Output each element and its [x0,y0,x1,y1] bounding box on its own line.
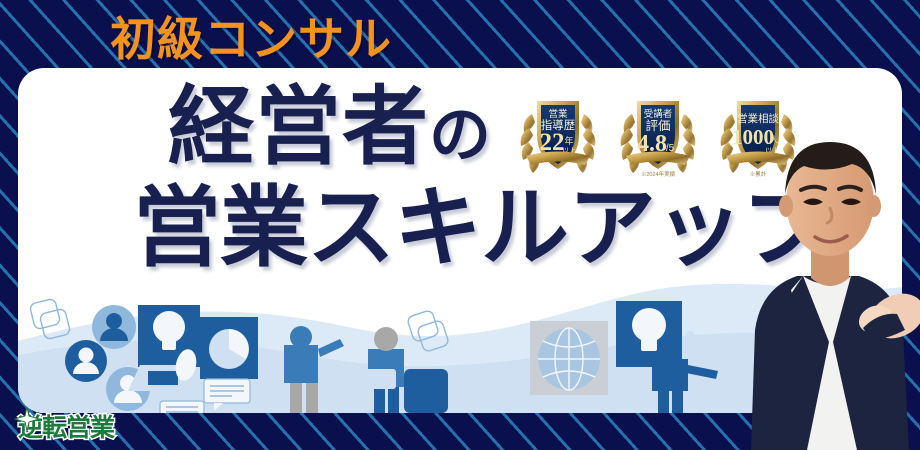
badge-student-rating: 受講者 評価 4.8 /5 ※2024年実績 [612,84,704,178]
brand-logo[interactable]: 逆転営業 [18,408,114,444]
laurel-shield-icon: 営業 指導歴 22 年 以上 [512,84,604,176]
svg-text:年: 年 [564,135,573,146]
laurel-shield-icon: 受講者 評価 4.8 /5 [612,84,704,176]
kicker-text: 初級コンサル [110,3,392,69]
headline-line-1-suffix: の [429,101,492,170]
badge-caption: ※2024年実績 [612,170,704,178]
marketing-banner: 経営者の 営業スキルアップ 初級コンサル [0,0,920,450]
svg-text:営業: 営業 [548,108,568,120]
globe-icon [538,328,600,390]
headline-line-2: 営業スキルアップ [133,184,829,272]
speech-bubble-icon [160,401,204,413]
star-sparkle-icon [14,406,40,432]
armchair-icon [404,369,448,413]
consultant-photo [745,120,920,450]
headline-line-1-main: 経営者 [168,79,429,175]
badge-experience-years: 営業 指導歴 22 年 以上 [512,84,604,178]
